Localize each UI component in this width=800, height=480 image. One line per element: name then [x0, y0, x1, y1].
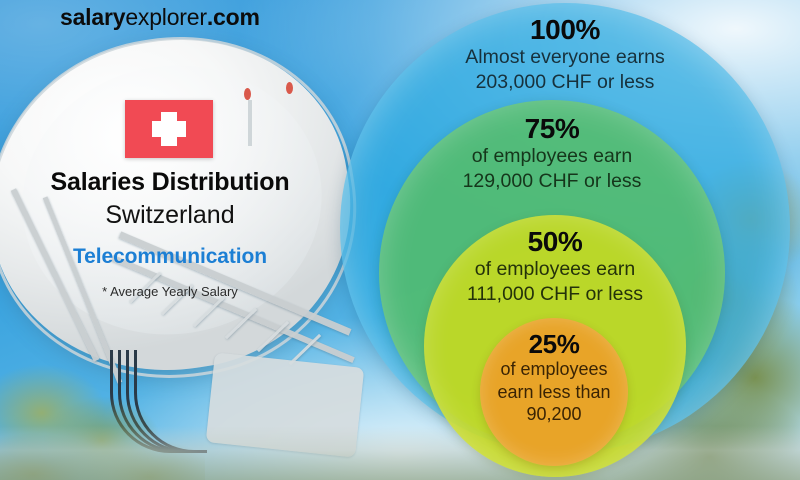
percentile-25-line2: earn less than: [480, 381, 628, 404]
swiss-flag-icon: [125, 100, 213, 158]
site-logo[interactable]: salaryexplorer.com: [60, 4, 260, 31]
dish-mast: [248, 100, 252, 146]
percentile-25-line1: of employees: [480, 358, 628, 381]
page-title: Salaries Distribution: [0, 168, 340, 196]
logo-part-bold-1: salary: [60, 4, 125, 30]
percentile-50-line2: 111,000 CHF or less: [424, 282, 686, 307]
dish-beacon-icon: [244, 88, 251, 100]
percentile-100-line2: 203,000 CHF or less: [340, 70, 790, 95]
dish-beacon-icon: [286, 82, 293, 94]
percentile-75-text: 75% of employees earn 129,000 CHF or les…: [379, 114, 725, 194]
percentile-75-line2: 129,000 CHF or less: [379, 169, 725, 194]
percentile-25-value: 25%: [480, 330, 628, 358]
infographic-root: salaryexplorer.com Salaries Distribution…: [0, 0, 800, 480]
percentile-50-value: 50%: [424, 227, 686, 257]
percentile-75-line1: of employees earn: [379, 144, 725, 169]
percentile-100-text: 100% Almost everyone earns 203,000 CHF o…: [340, 15, 790, 95]
percentile-75-value: 75%: [379, 114, 725, 144]
percentile-50-text: 50% of employees earn 111,000 CHF or les…: [424, 227, 686, 307]
salary-note: * Average Yearly Salary: [0, 284, 340, 299]
title-block: Salaries Distribution Switzerland Teleco…: [0, 168, 340, 299]
percentile-50-line1: of employees earn: [424, 257, 686, 282]
flag-cross-horizontal: [152, 121, 186, 137]
percentile-100-value: 100%: [340, 15, 790, 45]
job-category-label: Telecommunication: [0, 243, 340, 271]
percentile-circle-25: 25% of employees earn less than 90,200: [480, 318, 628, 466]
percentile-100-line1: Almost everyone earns: [340, 45, 790, 70]
ground-strip: [0, 426, 800, 480]
logo-part-bold-2: .com: [207, 4, 260, 30]
logo-part-regular: explorer: [125, 4, 207, 30]
percentile-25-text: 25% of employees earn less than 90,200: [480, 330, 628, 426]
percentile-25-line3: 90,200: [480, 403, 628, 426]
country-label: Switzerland: [0, 199, 340, 233]
